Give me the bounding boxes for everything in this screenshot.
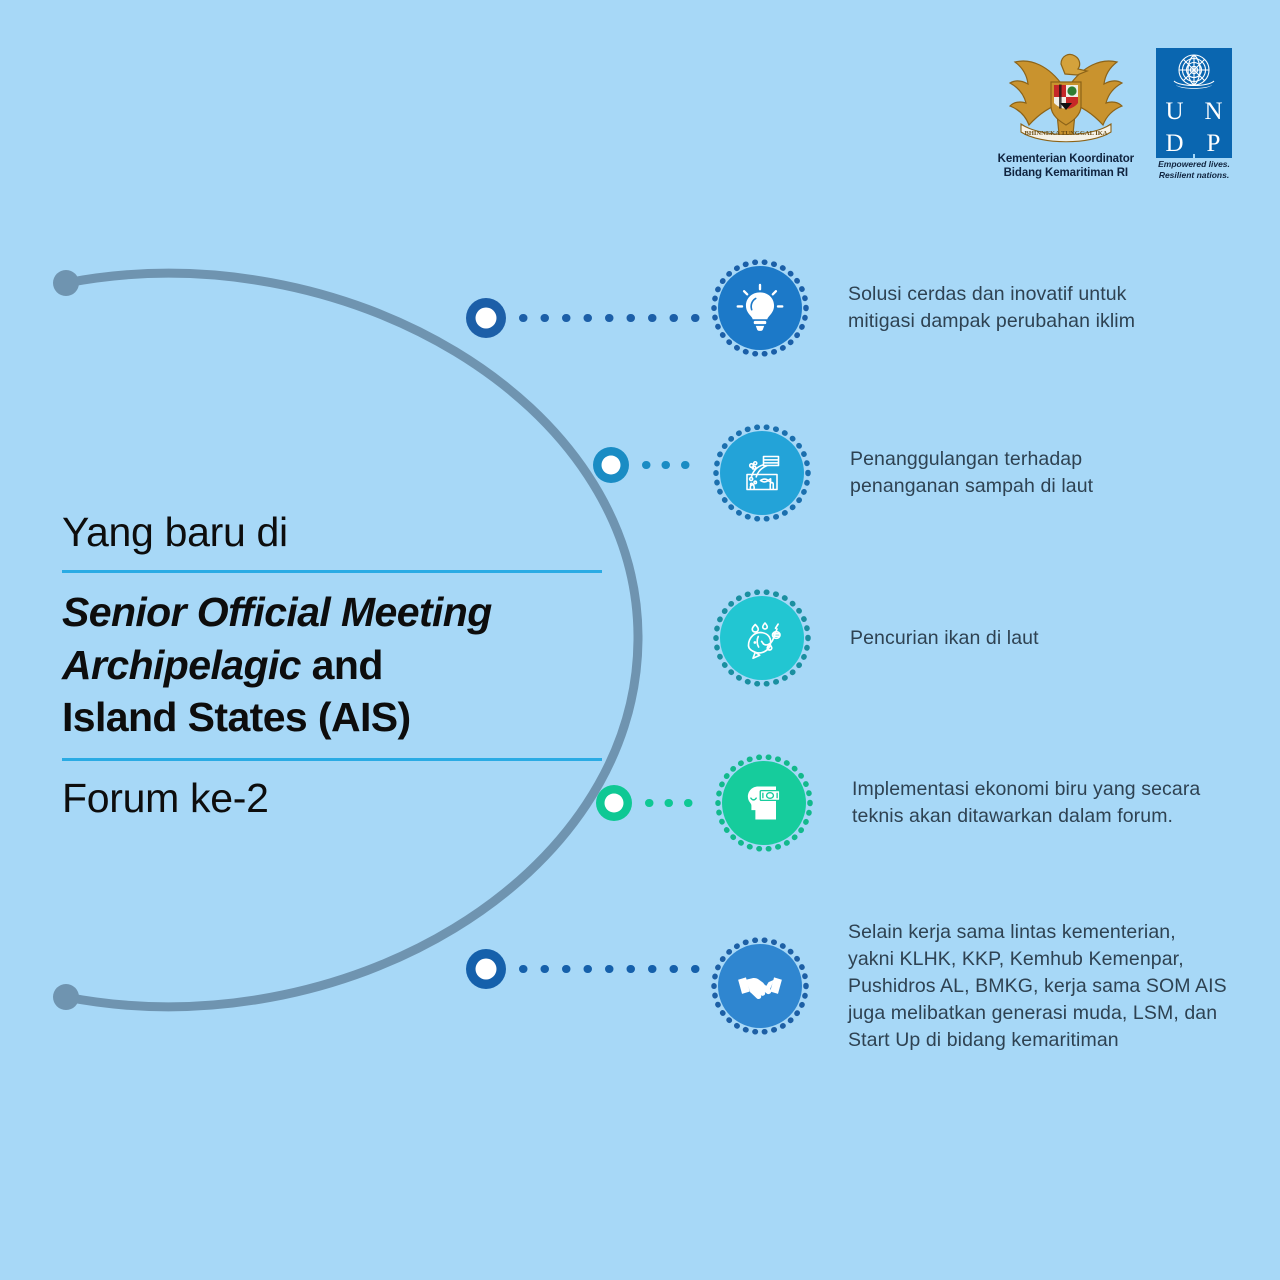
item-text-1: Solusi cerdas dan inovatif untuk mitigas… [848,281,1135,335]
undp-grid: U N D P [1156,48,1232,154]
logo-bar: BHINNEKA TUNGGAL IKA Kementerian Koordin… [998,48,1232,182]
icon-badge-5 [710,936,810,1036]
list-item-3: Pencurian ikan di laut [712,588,1252,688]
undp-letter-n: N [1195,96,1232,126]
handshake-icon [735,961,785,1011]
title-rule-bottom [62,758,602,761]
banknote [760,791,780,801]
undp-tagline-line1: Empowered lives. [1158,159,1230,170]
title-post: Forum ke-2 [62,774,602,822]
fish-hook-icon [738,614,786,662]
infographic-canvas: BHINNEKA TUNGGAL IKA Kementerian Koordin… [0,0,1280,1280]
svg-text:BHINNEKA TUNGGAL IKA: BHINNEKA TUNGGAL IKA [1024,130,1107,137]
icon-disc-5 [718,944,802,1028]
item-text-5: Selain kerja sama lintas kementerian, ya… [848,919,1227,1054]
icon-disc-3 [720,596,804,680]
item-text-4: Implementasi ekonomi biru yang secara te… [852,776,1200,830]
item-text-2: Penanggulangan terhadap penanganan sampa… [850,446,1093,500]
undp-letter-u: U [1156,96,1193,126]
head-money-icon [740,779,788,827]
marine-waste-icon [738,449,786,497]
title-line3: Island States (AIS) [62,694,411,740]
kemenko-caption: Kementerian Koordinator Bidang Kemaritim… [998,152,1134,181]
undp-letter-d: D [1156,128,1193,158]
icon-badge-2 [712,423,812,523]
undp-logo: U N D P Empowered lives. Resilient natio… [1156,48,1232,182]
icon-disc-2 [720,431,804,515]
node-marker-1 [466,298,506,338]
un-emblem-icon [1156,48,1232,94]
lightbulb-icon [735,283,785,333]
title-rule-top [62,570,602,573]
list-item-2: Penanggulangan terhadap penanganan sampa… [712,423,1252,523]
icon-disc-4 [722,761,806,845]
node-marker-5 [466,949,506,989]
garuda-emblem-icon: BHINNEKA TUNGGAL IKA [1001,48,1131,148]
title-block: Yang baru di Senior Official Meeting Arc… [62,508,602,822]
title-pre: Yang baru di [62,508,602,556]
undp-letter-p: P [1195,128,1232,158]
node-marker-2 [593,447,629,483]
icon-badge-1 [710,258,810,358]
title-line1: Senior Official Meeting [62,589,492,635]
kemenko-marves-logo: BHINNEKA TUNGGAL IKA Kementerian Koordin… [998,48,1134,181]
list-item-4: Implementasi ekonomi biru yang secara te… [714,753,1254,853]
list-item-5: Selain kerja sama lintas kementerian, ya… [710,919,1270,1054]
title-line2-italic: Archipelagic [62,642,301,688]
arc-endpoint-top [53,270,79,296]
item-text-3: Pencurian ikan di laut [850,625,1039,652]
title-line2-rest: and [301,642,383,688]
undp-tagline: Empowered lives. Resilient nations. [1158,159,1230,182]
list-item-1: Solusi cerdas dan inovatif untuk mitigas… [710,258,1250,358]
icon-badge-3 [712,588,812,688]
page-title: Senior Official Meeting Archipelagic and… [62,586,602,743]
undp-tagline-line2: Resilient nations. [1158,170,1230,181]
icon-badge-4 [714,753,814,853]
kemenko-caption-line2: Bidang Kemaritiman RI [998,166,1134,180]
icon-disc-1 [718,266,802,350]
kemenko-caption-line1: Kementerian Koordinator [998,152,1134,166]
arc-endpoint-bottom [53,984,79,1010]
